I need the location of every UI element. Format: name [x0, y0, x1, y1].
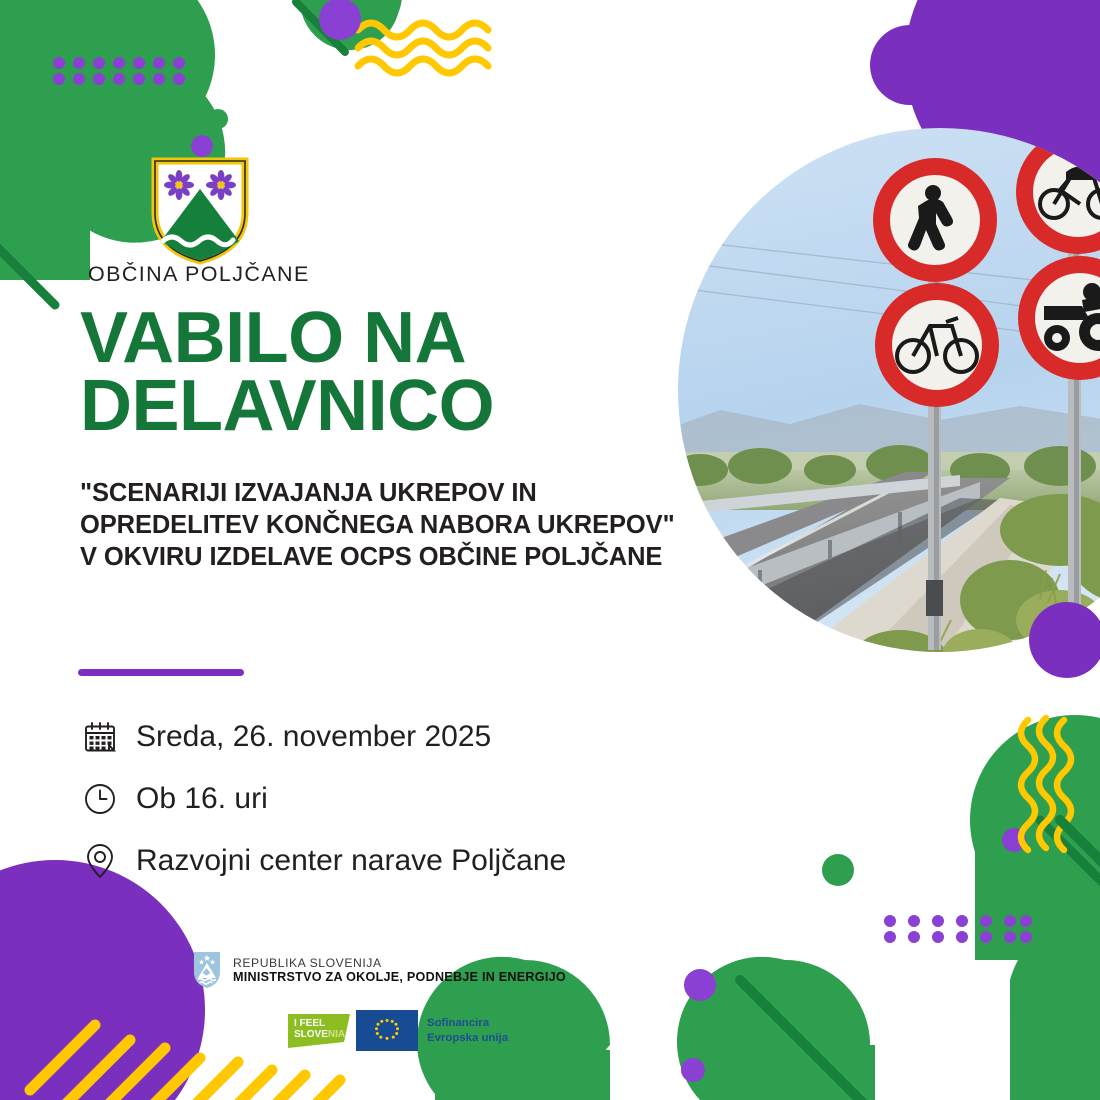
detail-row-date: Sreda, 26. november 2025 — [76, 706, 716, 768]
calendar-icon — [76, 715, 124, 759]
clock-icon — [76, 777, 124, 821]
ifeel-line-1: I FEEL — [294, 1018, 325, 1029]
title-line-2: DELAVNICO — [80, 373, 720, 441]
eu-line-1: Sofinancira — [427, 1016, 508, 1030]
european-union-flag — [356, 1010, 418, 1051]
detail-label-time: Ob 16. uri — [136, 782, 268, 816]
gov-line-2: MINISTRSTVO ZA OKOLJE, PODNEBJE IN ENERG… — [233, 970, 566, 985]
municipality-name: OBČINA POLJČANE — [88, 262, 310, 287]
ifeel-nia: NIA — [328, 1029, 345, 1040]
detail-label-location: Razvojni center narave Poljčane — [136, 844, 566, 878]
gov-line-1: REPUBLIKA SLOVENIJA — [233, 956, 566, 970]
ifeel-s: S — [294, 1029, 301, 1040]
detail-label-date: Sreda, 26. november 2025 — [136, 720, 491, 754]
poster: OBČINA POLJČANE VABILO NA DELAVNICO "SCE… — [0, 0, 1100, 1100]
obcina-poljcane-coat-of-arms — [147, 157, 253, 265]
eu-funding-caption: Sofinancira Evropska unija — [427, 1016, 508, 1045]
slovenia-coat-of-arms — [192, 950, 222, 990]
i-feel-slovenia-logo: I FEEL SLOVENIA — [288, 1014, 350, 1048]
eu-line-2: Evropska unija — [427, 1031, 508, 1045]
government-logo: REPUBLIKA SLOVENIJA MINISTRSTVO ZA OKOLJ… — [192, 950, 566, 990]
page-subtitle: "SCENARIJI IZVAJANJA UKREPOV IN OPREDELI… — [80, 477, 680, 573]
ifeel-love: LOVE — [301, 1029, 328, 1040]
event-details-list: Sreda, 26. november 2025 Ob 16. uri — [76, 706, 716, 892]
detail-row-location: Razvojni center narave Poljčane — [76, 830, 716, 892]
location-pin-icon — [76, 839, 124, 883]
detail-row-time: Ob 16. uri — [76, 768, 716, 830]
purple-divider — [78, 669, 244, 676]
funding-logos: I FEEL SLOVENIA — [288, 1010, 508, 1051]
page-title: VABILO NA DELAVNICO — [80, 305, 720, 440]
